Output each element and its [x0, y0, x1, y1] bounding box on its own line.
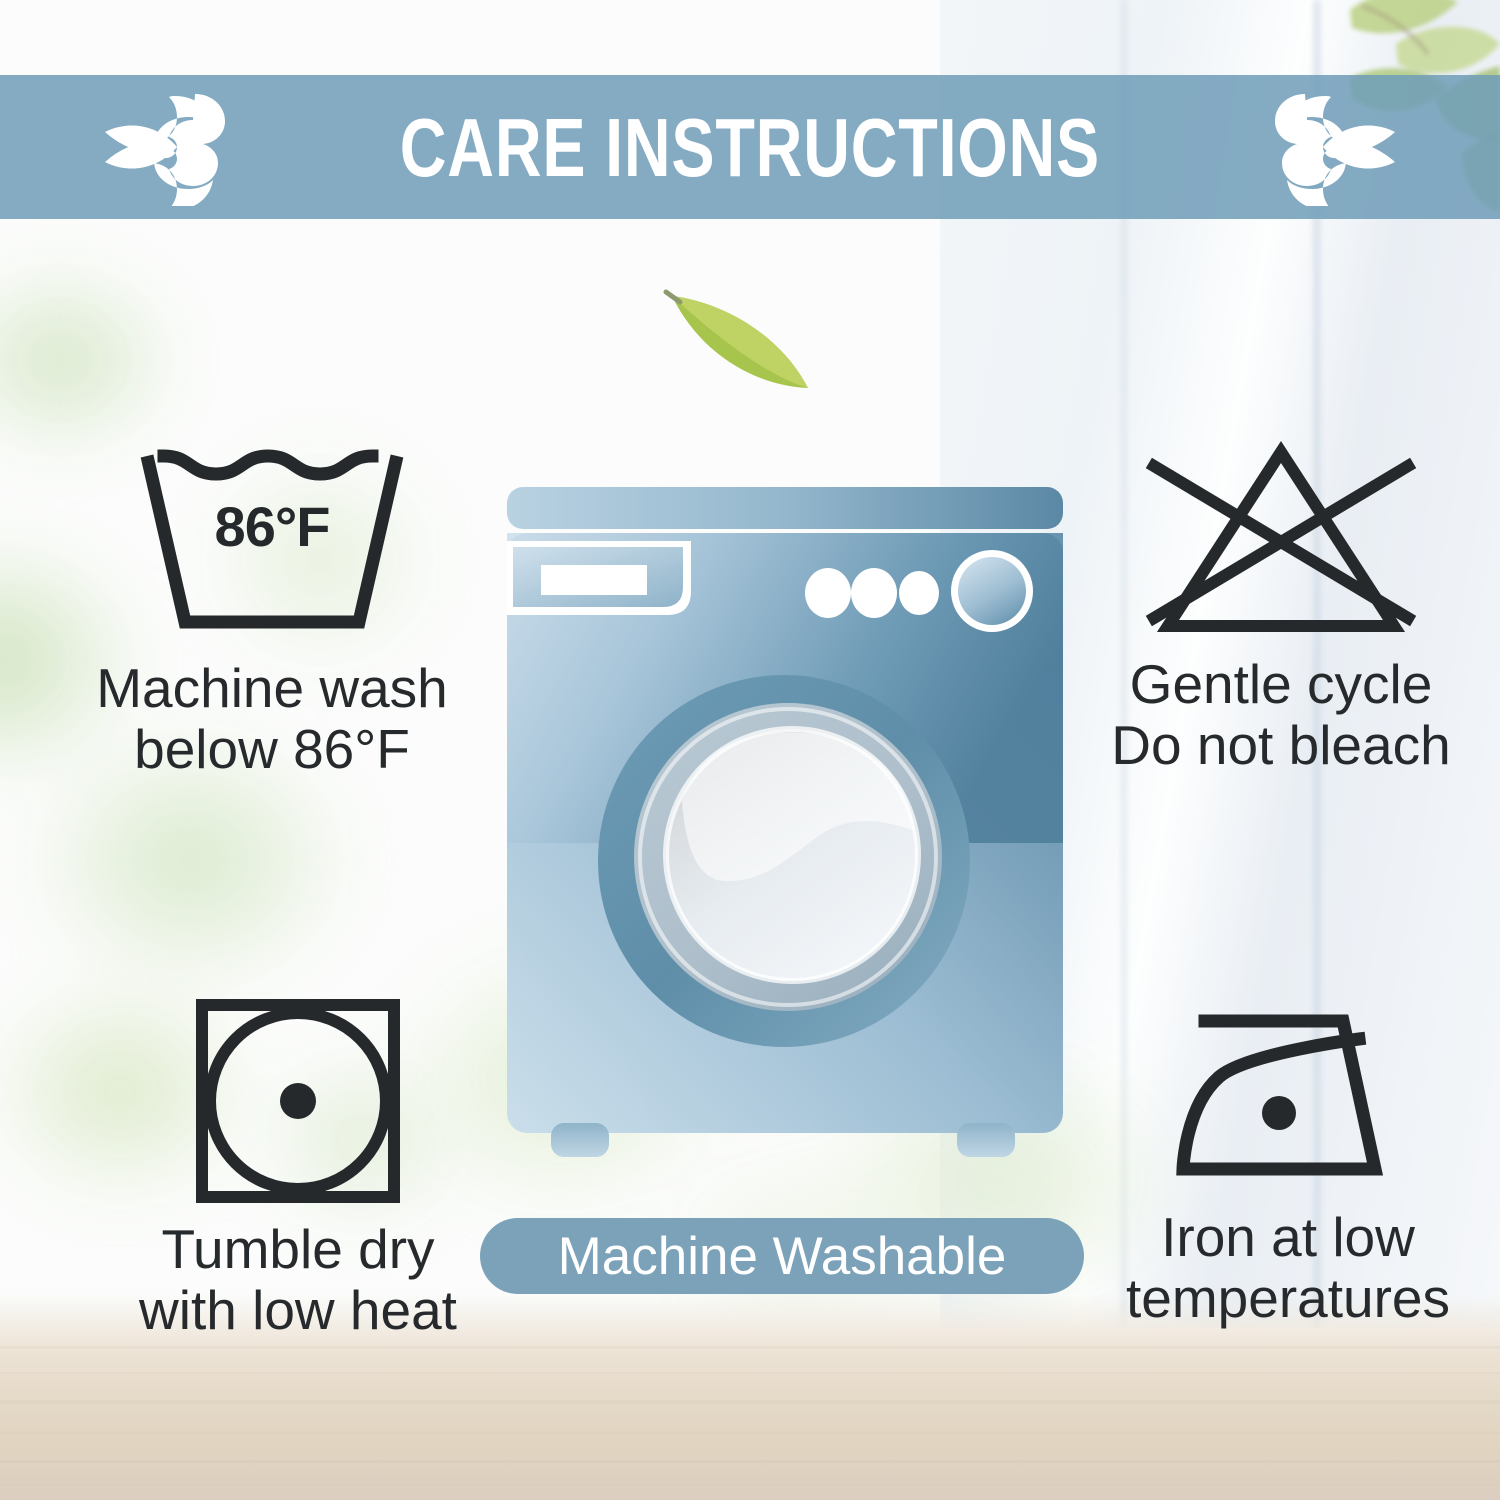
floating-leaf-icon	[648, 280, 828, 400]
care-symbol-do-not-bleach: Gentle cycle Do not bleach	[1066, 440, 1496, 775]
header-banner: CARE INSTRUCTIONS	[0, 75, 1500, 219]
machine-washable-badge-label: Machine Washable	[558, 1230, 1007, 1283]
machine-washable-badge: Machine Washable	[480, 1218, 1084, 1294]
page-title: CARE INSTRUCTIONS	[400, 106, 1100, 189]
detergent-drawer	[507, 541, 691, 615]
care-label-machine-wash: Machine wash below 86°F	[96, 658, 448, 779]
triangle-crossed-out-icon	[1136, 440, 1426, 640]
washer-door	[598, 675, 970, 1047]
care-symbol-tumble-dry: Tumble dry with low heat	[98, 995, 498, 1340]
care-symbol-machine-wash: 86°F Machine wash below 86°F	[62, 440, 482, 779]
iron-one-dot-icon	[1163, 995, 1413, 1195]
care-label-iron-low: Iron at low temperatures	[1126, 1207, 1450, 1328]
care-label-do-not-bleach: Gentle cycle Do not bleach	[1111, 654, 1450, 775]
fleur-de-lis-icon-right	[1233, 88, 1401, 206]
tumble-dry-square-circle-icon	[192, 995, 404, 1207]
wash-tub-icon-wrap: 86°F	[133, 440, 411, 640]
fleur-de-lis-icon-left	[99, 88, 267, 206]
washing-machine-illustration	[505, 483, 1065, 1183]
control-indicator-lights	[805, 568, 939, 618]
rotary-knob	[951, 550, 1033, 632]
care-instructions-infographic: CARE INSTRUCTIONS 86°F Machine wash belo…	[0, 0, 1500, 1500]
wash-temperature-value: 86°F	[133, 494, 411, 559]
washer-lid	[507, 487, 1063, 529]
care-label-tumble-dry: Tumble dry with low heat	[139, 1219, 457, 1340]
wooden-surface	[0, 1328, 1500, 1500]
care-symbol-iron-low: Iron at low temperatures	[1078, 995, 1498, 1328]
